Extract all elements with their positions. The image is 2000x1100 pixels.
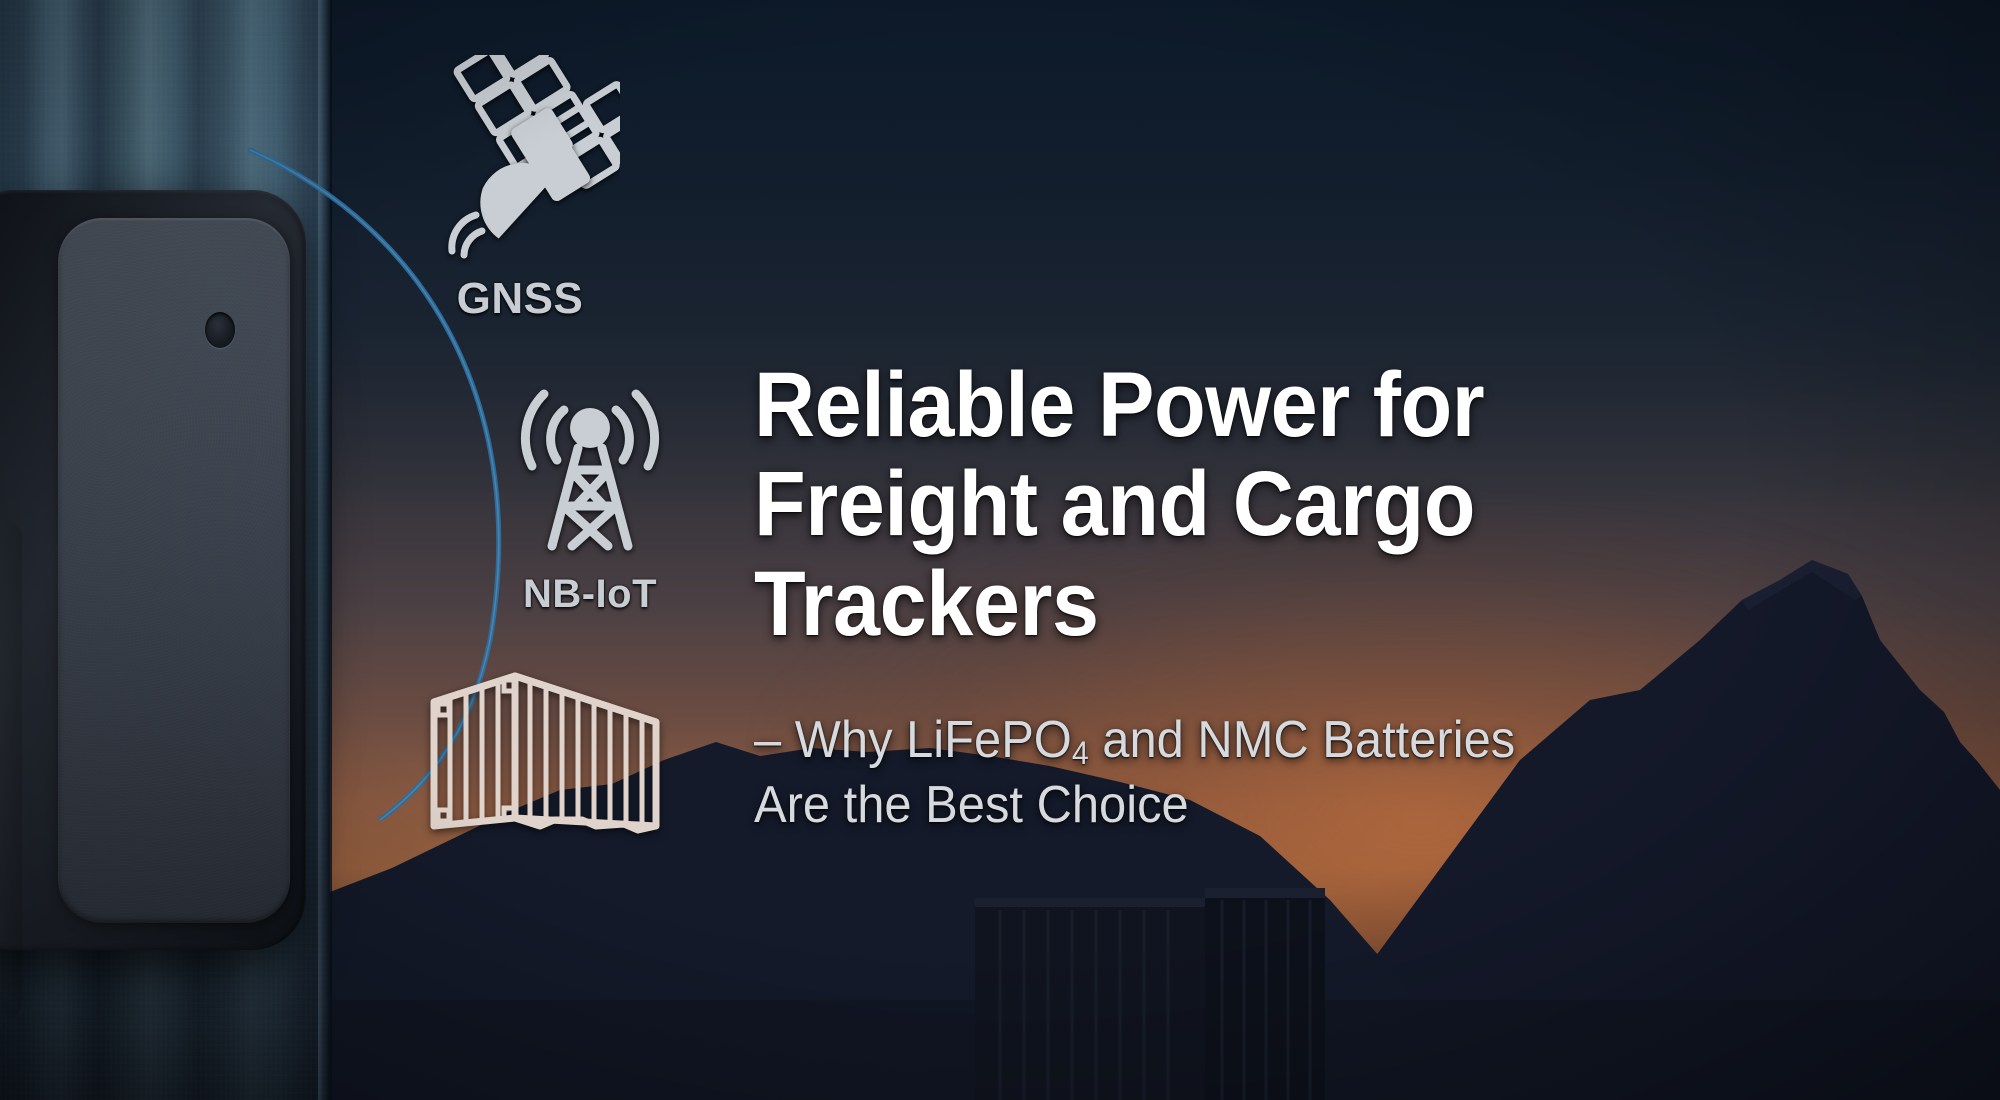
subhead-line-1-prefix: – Why LiFePO (754, 711, 1072, 769)
page-title: Reliable Power for Freight and Cargo Tra… (754, 356, 1656, 654)
device-side-bezel (0, 520, 22, 1020)
device-led-indicator (205, 312, 235, 348)
page-subtitle: – Why LiFePO4 and NMC Batteries Are the … (754, 654, 1675, 837)
headline-line-2: Freight and Cargo (754, 455, 1656, 554)
nbiot-label: NB-IoT (490, 572, 690, 617)
satellite-icon (420, 55, 620, 265)
hero-banner: GNSS (0, 0, 2000, 1100)
subhead-line-1: – Why LiFePO4 and NMC Batteries (754, 708, 1675, 772)
shipping-container-icon (420, 630, 670, 840)
banner-copy: Reliable Power for Freight and Cargo Tra… (754, 356, 1734, 837)
nbiot-icon-block: NB-IoT (490, 370, 690, 617)
gnss-label: GNSS (420, 274, 620, 324)
gnss-icon-block: GNSS (420, 55, 620, 324)
container-icon-block (420, 630, 670, 845)
headline-line-1: Reliable Power for (754, 356, 1656, 455)
device-front-panel (58, 218, 290, 923)
subhead-line-1-subscript: 4 (1072, 735, 1089, 771)
subhead-line-2: Are the Best Choice (754, 773, 1675, 837)
subhead-line-1-suffix: and NMC Batteries (1089, 711, 1516, 769)
cell-tower-icon (490, 370, 690, 565)
headline-line-3: Trackers (754, 555, 1656, 654)
